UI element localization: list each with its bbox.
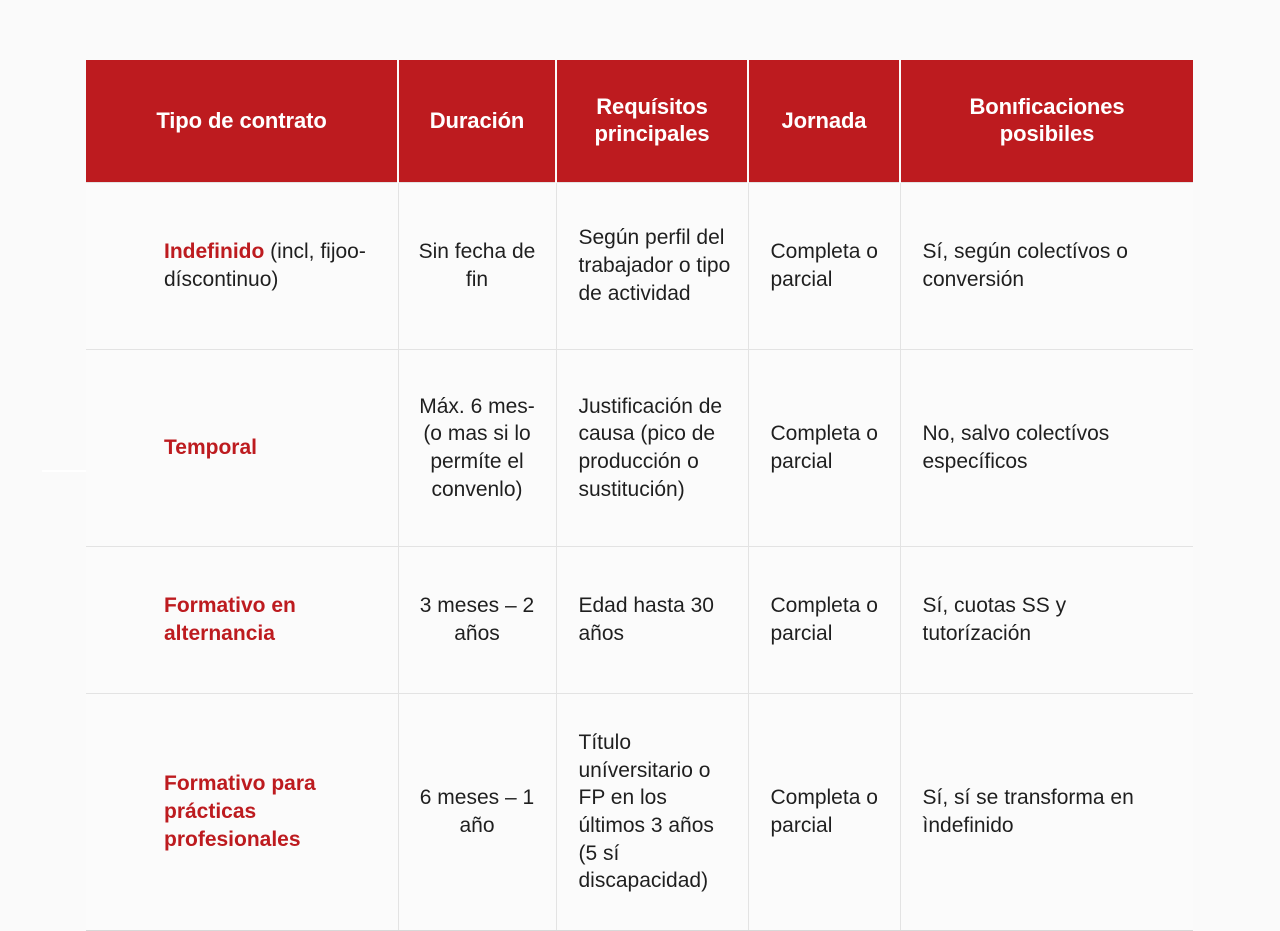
cell-jornada: Completa o parcial [748,547,900,694]
column-header-bonificaciones-line1: Bonıficaciones [969,94,1124,119]
cell-duracion: Máx. 6 mes- (o mas si lo permíte el conv… [398,350,556,547]
table-row: Formativo en alternancia 3 meses – 2 año… [86,547,1193,694]
cell-duracion: Sin fecha de fin [398,183,556,350]
column-header-requisitos-principales: Requísitos principales [556,60,748,183]
cell-bonificaciones: Sí, sí se transforma en ìndefinido [900,694,1193,931]
contract-type-name: Formativo para prácticas profesionales [164,772,316,850]
cell-tipo-de-contrato: Formativo para prácticas profesionales [86,694,398,931]
cell-requisitos: Según perfil del trabajador o tipo de ac… [556,183,748,350]
cell-requisitos: Justificación de causa (pico de producci… [556,350,748,547]
cell-requisitos: Edad hasta 30 años [556,547,748,694]
cell-tipo-de-contrato: Temporal [86,350,398,547]
table-row: Indefinido (incl, fijoo-díscontinuo) Sin… [86,183,1193,350]
contract-type-name: Temporal [164,436,257,459]
cell-jornada: Completa o parcial [748,350,900,547]
table-row: Formativo para prácticas profesionales 6… [86,694,1193,931]
cell-duracion: 6 meses – 1 año [398,694,556,931]
cell-requisitos: Título uníversitario o FP en los últimos… [556,694,748,931]
background-guide-line-horizontal [42,470,88,472]
column-header-jornada: Jornada [748,60,900,183]
cell-bonificaciones: Sí, cuotas SS y tutorízación [900,547,1193,694]
table-row: Temporal Máx. 6 mes- (o mas si lo permít… [86,350,1193,547]
cell-tipo-de-contrato: Formativo en alternancia [86,547,398,694]
contract-type-name: Indefinido [164,240,264,263]
column-header-bonificaciones-line2: posibiles [1000,121,1094,146]
cell-duracion: 3 meses – 2 años [398,547,556,694]
cell-bonificaciones: Sí, según colectívos o conversión [900,183,1193,350]
column-header-duracion: Duración [398,60,556,183]
table-header: Tipo de contrato Duración Requísitos pri… [86,60,1193,183]
table-body: Indefinido (incl, fijoo-díscontinuo) Sin… [86,183,1193,931]
column-header-requisitos-line1: Requísitos [596,94,707,119]
cell-jornada: Completa o parcial [748,183,900,350]
cell-jornada: Completa o parcial [748,694,900,931]
column-header-tipo-de-contrato: Tipo de contrato [86,60,398,183]
cell-bonificaciones: No, salvo colectívos específicos [900,350,1193,547]
column-header-requisitos-line2: principales [594,121,709,146]
cell-tipo-de-contrato: Indefinido (incl, fijoo-díscontinuo) [86,183,398,350]
contract-types-table: Tipo de contrato Duración Requísitos pri… [86,60,1193,931]
contract-types-table-container: Tipo de contrato Duración Requísitos pri… [86,60,1193,791]
table-header-row: Tipo de contrato Duración Requísitos pri… [86,60,1193,183]
contract-type-name: Formativo en alternancia [164,594,296,645]
column-header-bonificaciones-posibiles: Bonıficaciones posibiles [900,60,1193,183]
